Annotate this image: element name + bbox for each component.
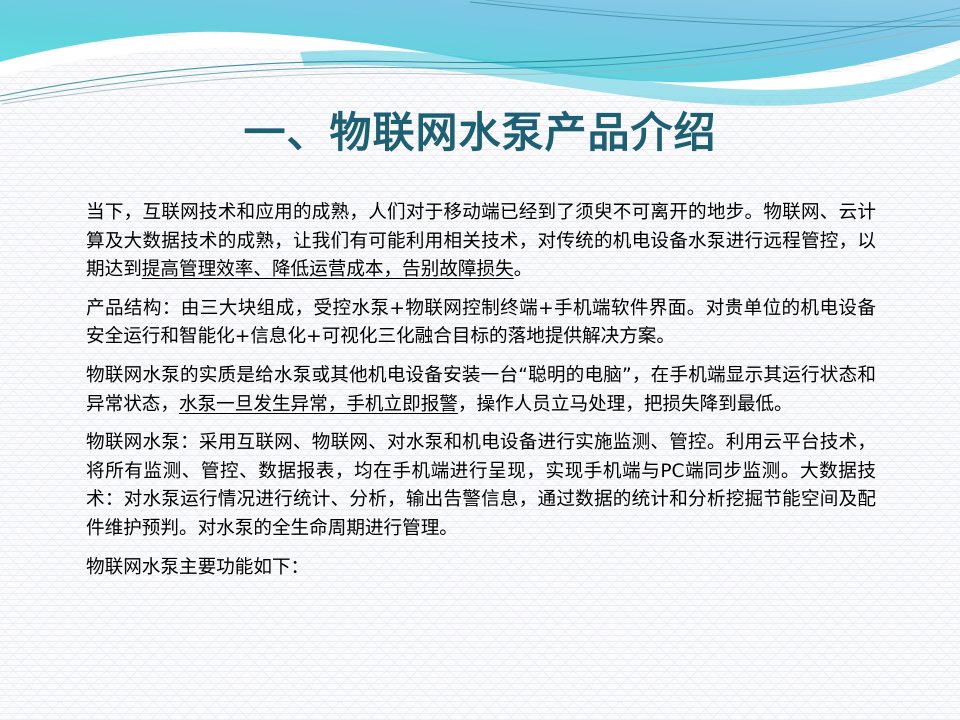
presentation-slide: 一、物联网水泵产品介绍 当下，互联网技术和应用的成熟，人们对于移动端已经到了须臾… <box>0 0 960 720</box>
slide-title: 一、物联网水泵产品介绍 <box>0 108 960 158</box>
decorative-wave-banner <box>0 0 960 120</box>
paragraph-1: 当下，互联网技术和应用的成熟，人们对于移动端已经到了须臾不可离开的地步。物联网、… <box>86 199 876 285</box>
body-text-run: 物联网水泵主要功能如下： <box>86 557 309 578</box>
body-text-run: 。 <box>514 259 533 280</box>
paragraph-2: 产品结构：由三大块组成，受控水泵+物联网控制终端+手机端软件界面。对贵单位的机电… <box>86 295 876 352</box>
paragraph-5: 物联网水泵主要功能如下： <box>86 554 876 583</box>
emphasis-text: 提高管理效率、降低运营成本，告别故障损失 <box>142 259 514 280</box>
body-text-run: 物联网水泵：采用互联网、物联网、对水泵和机电设备进行实施监测、管控。利用云平台技… <box>86 432 876 539</box>
body-text-run: 产品结构：由三大块组成，受控水泵+物联网控制终端+手机端软件界面。对贵单位的机电… <box>86 298 876 348</box>
body-text-run: ，操作人员立马处理，把损失降到最低。 <box>458 394 793 415</box>
paragraph-3: 物联网水泵的实质是给水泵或其他机电设备安装一台“聪明的电脑”，在手机端显示其运行… <box>86 362 876 419</box>
emphasis-text: 水泵一旦发生异常，手机立即报警 <box>179 394 458 415</box>
slide-body: 当下，互联网技术和应用的成熟，人们对于移动端已经到了须臾不可离开的地步。物联网、… <box>86 199 876 582</box>
paragraph-4: 物联网水泵：采用互联网、物联网、对水泵和机电设备进行实施监测、管控。利用云平台技… <box>86 429 876 543</box>
